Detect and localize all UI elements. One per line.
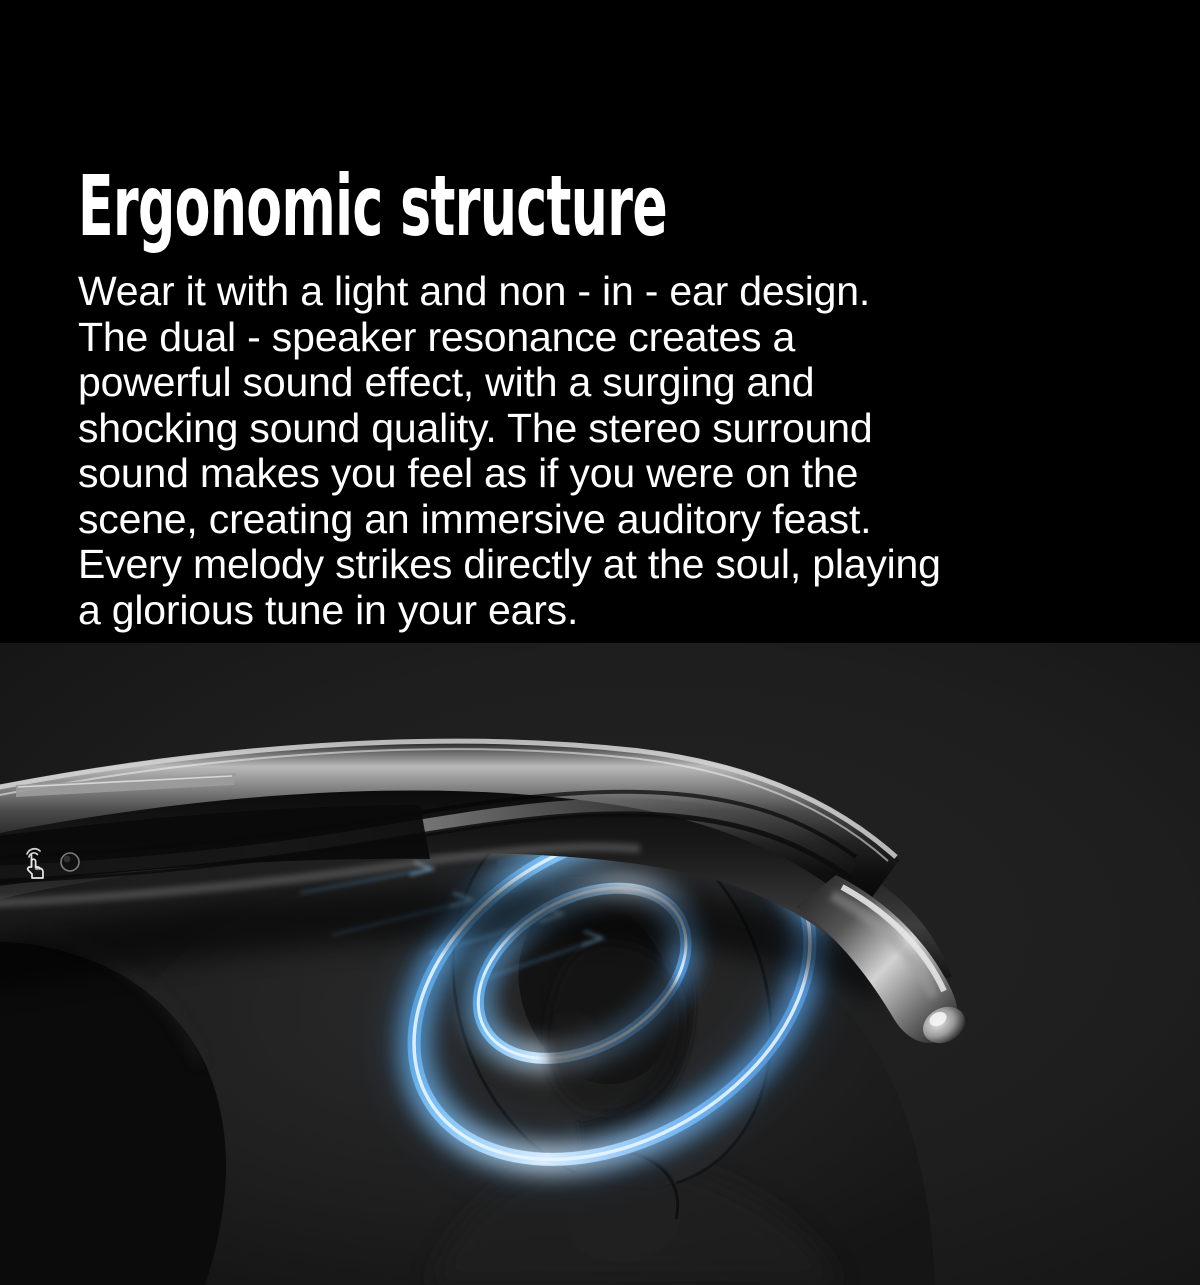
page-title: Ergonomic structure	[78, 164, 667, 248]
intro-text-panel: Ergonomic structure Wear it with a light…	[0, 0, 1200, 643]
product-photo-illustration	[0, 643, 1200, 1285]
product-photo	[0, 643, 1200, 1285]
body-paragraph: Wear it with a light and non - in - ear …	[78, 269, 1088, 633]
